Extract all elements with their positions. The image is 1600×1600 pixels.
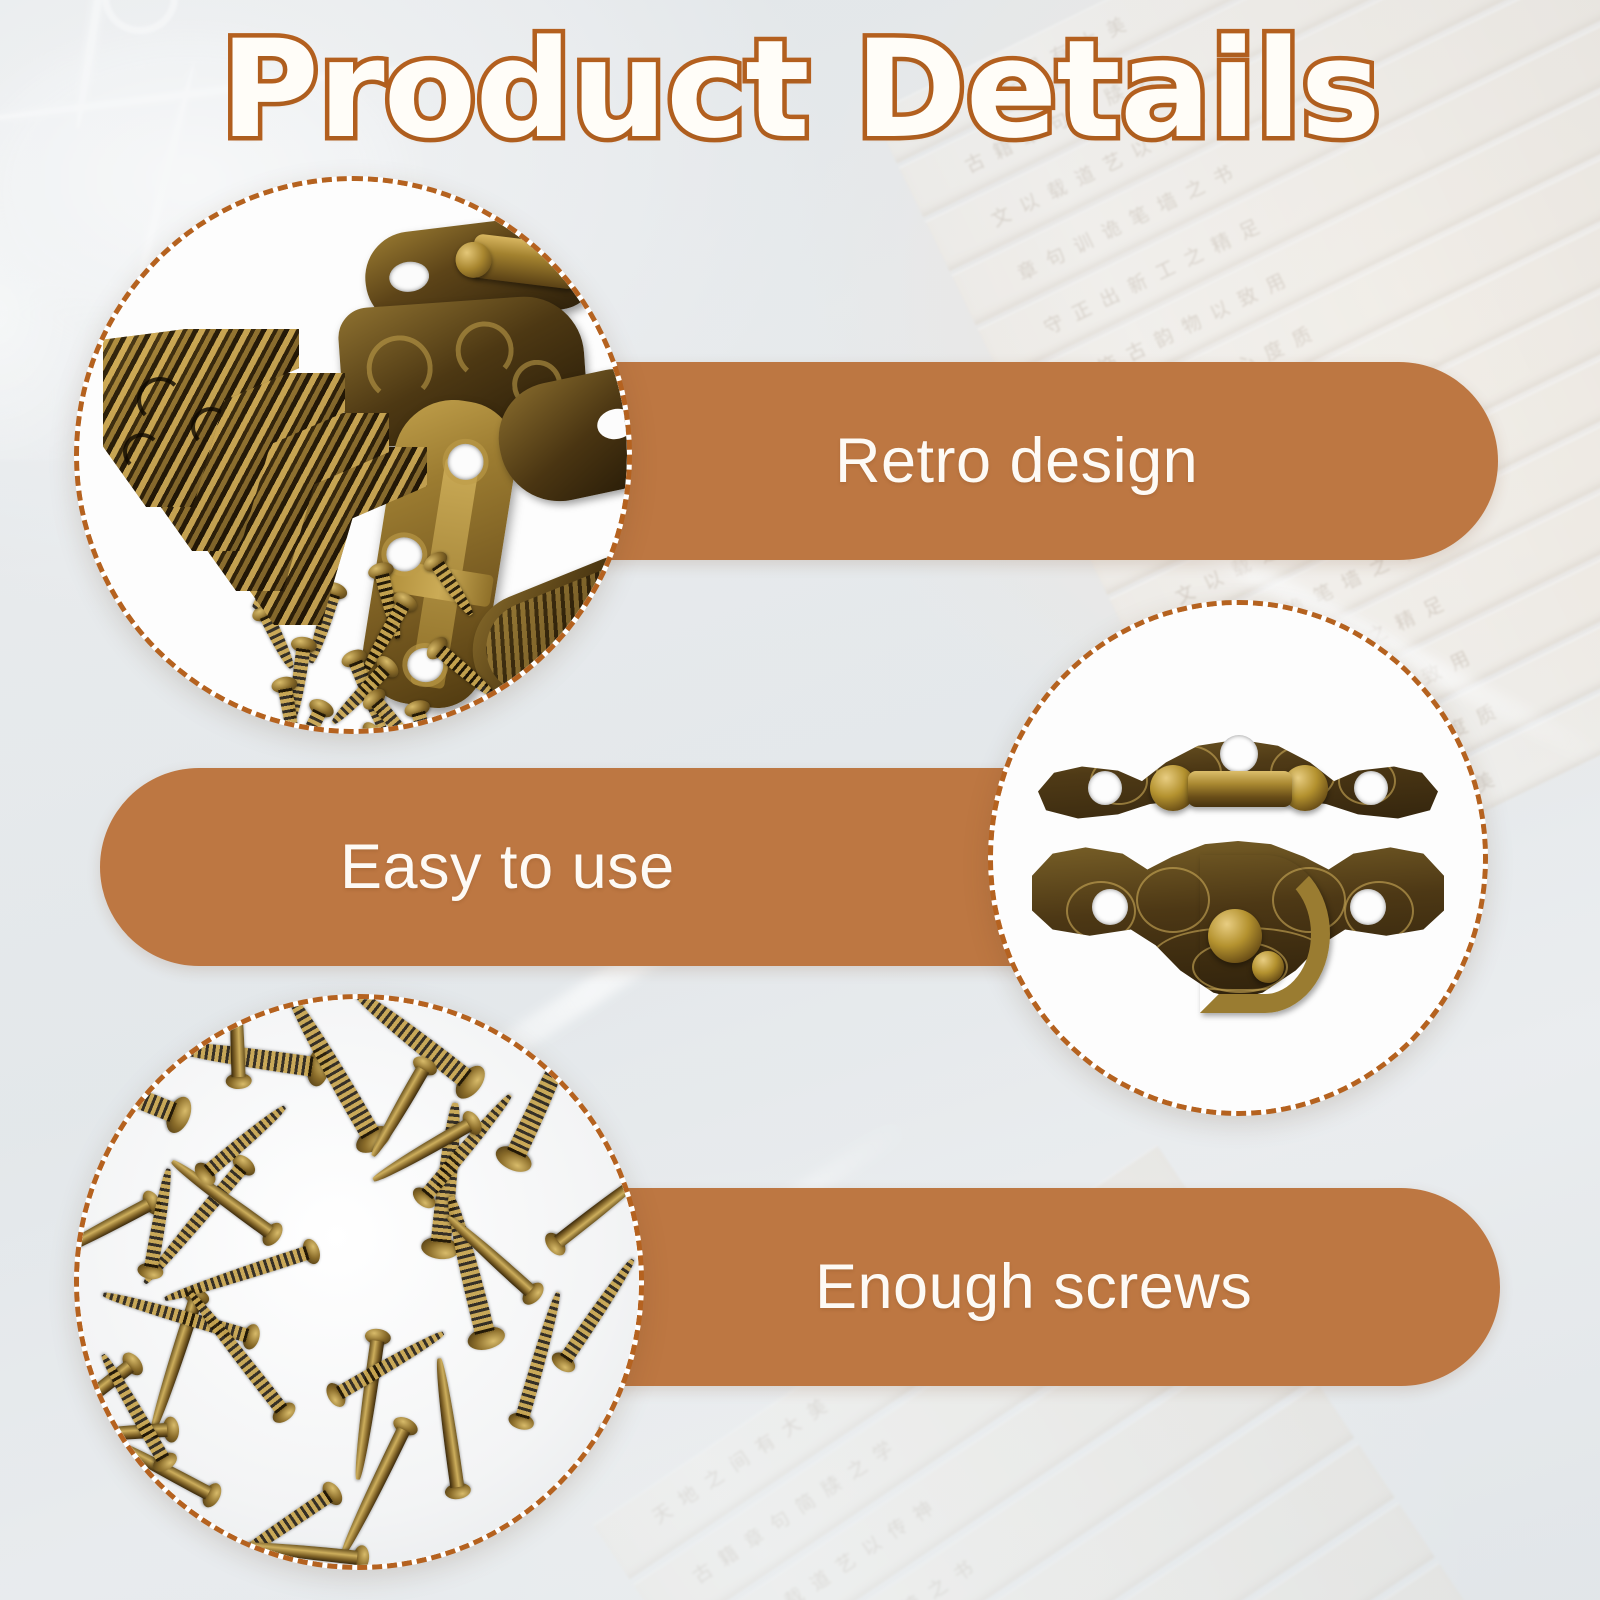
photo-inner-easy-to-use — [993, 605, 1483, 1111]
latch-small-knob — [1252, 951, 1284, 983]
screw-hole — [1350, 889, 1386, 925]
feature-bar-easy-to-use: Easy to use — [100, 768, 1110, 966]
screw-hole — [594, 405, 627, 442]
screw-pile — [79, 999, 639, 1565]
latch-catch-knob — [1208, 909, 1262, 963]
feature-label-retro-design: Retro design — [835, 430, 1198, 493]
screw-hole — [387, 259, 430, 294]
screw-hole — [1354, 771, 1388, 805]
latch-barrel — [1188, 771, 1292, 807]
screw-hole — [1220, 735, 1258, 773]
feature-photo-enough-screws — [74, 994, 644, 1570]
photo-inner-retro-design — [79, 181, 627, 729]
photo-inner-enough-screws — [79, 999, 639, 1565]
feature-photo-easy-to-use — [988, 600, 1488, 1116]
screw-hole — [1088, 771, 1122, 805]
product-details-infographic: 天 地 之 间 有 大 美古 籍 章 句 简 牍 之 学文 以 载 道 艺 以 … — [0, 0, 1600, 1600]
screw-hole — [1092, 889, 1128, 925]
feature-label-enough-screws: Enough screws — [815, 1256, 1252, 1319]
feature-photo-retro-design — [74, 176, 632, 734]
ornate-hasp-latch — [1032, 713, 1444, 1003]
feature-label-easy-to-use: Easy to use — [340, 836, 675, 899]
